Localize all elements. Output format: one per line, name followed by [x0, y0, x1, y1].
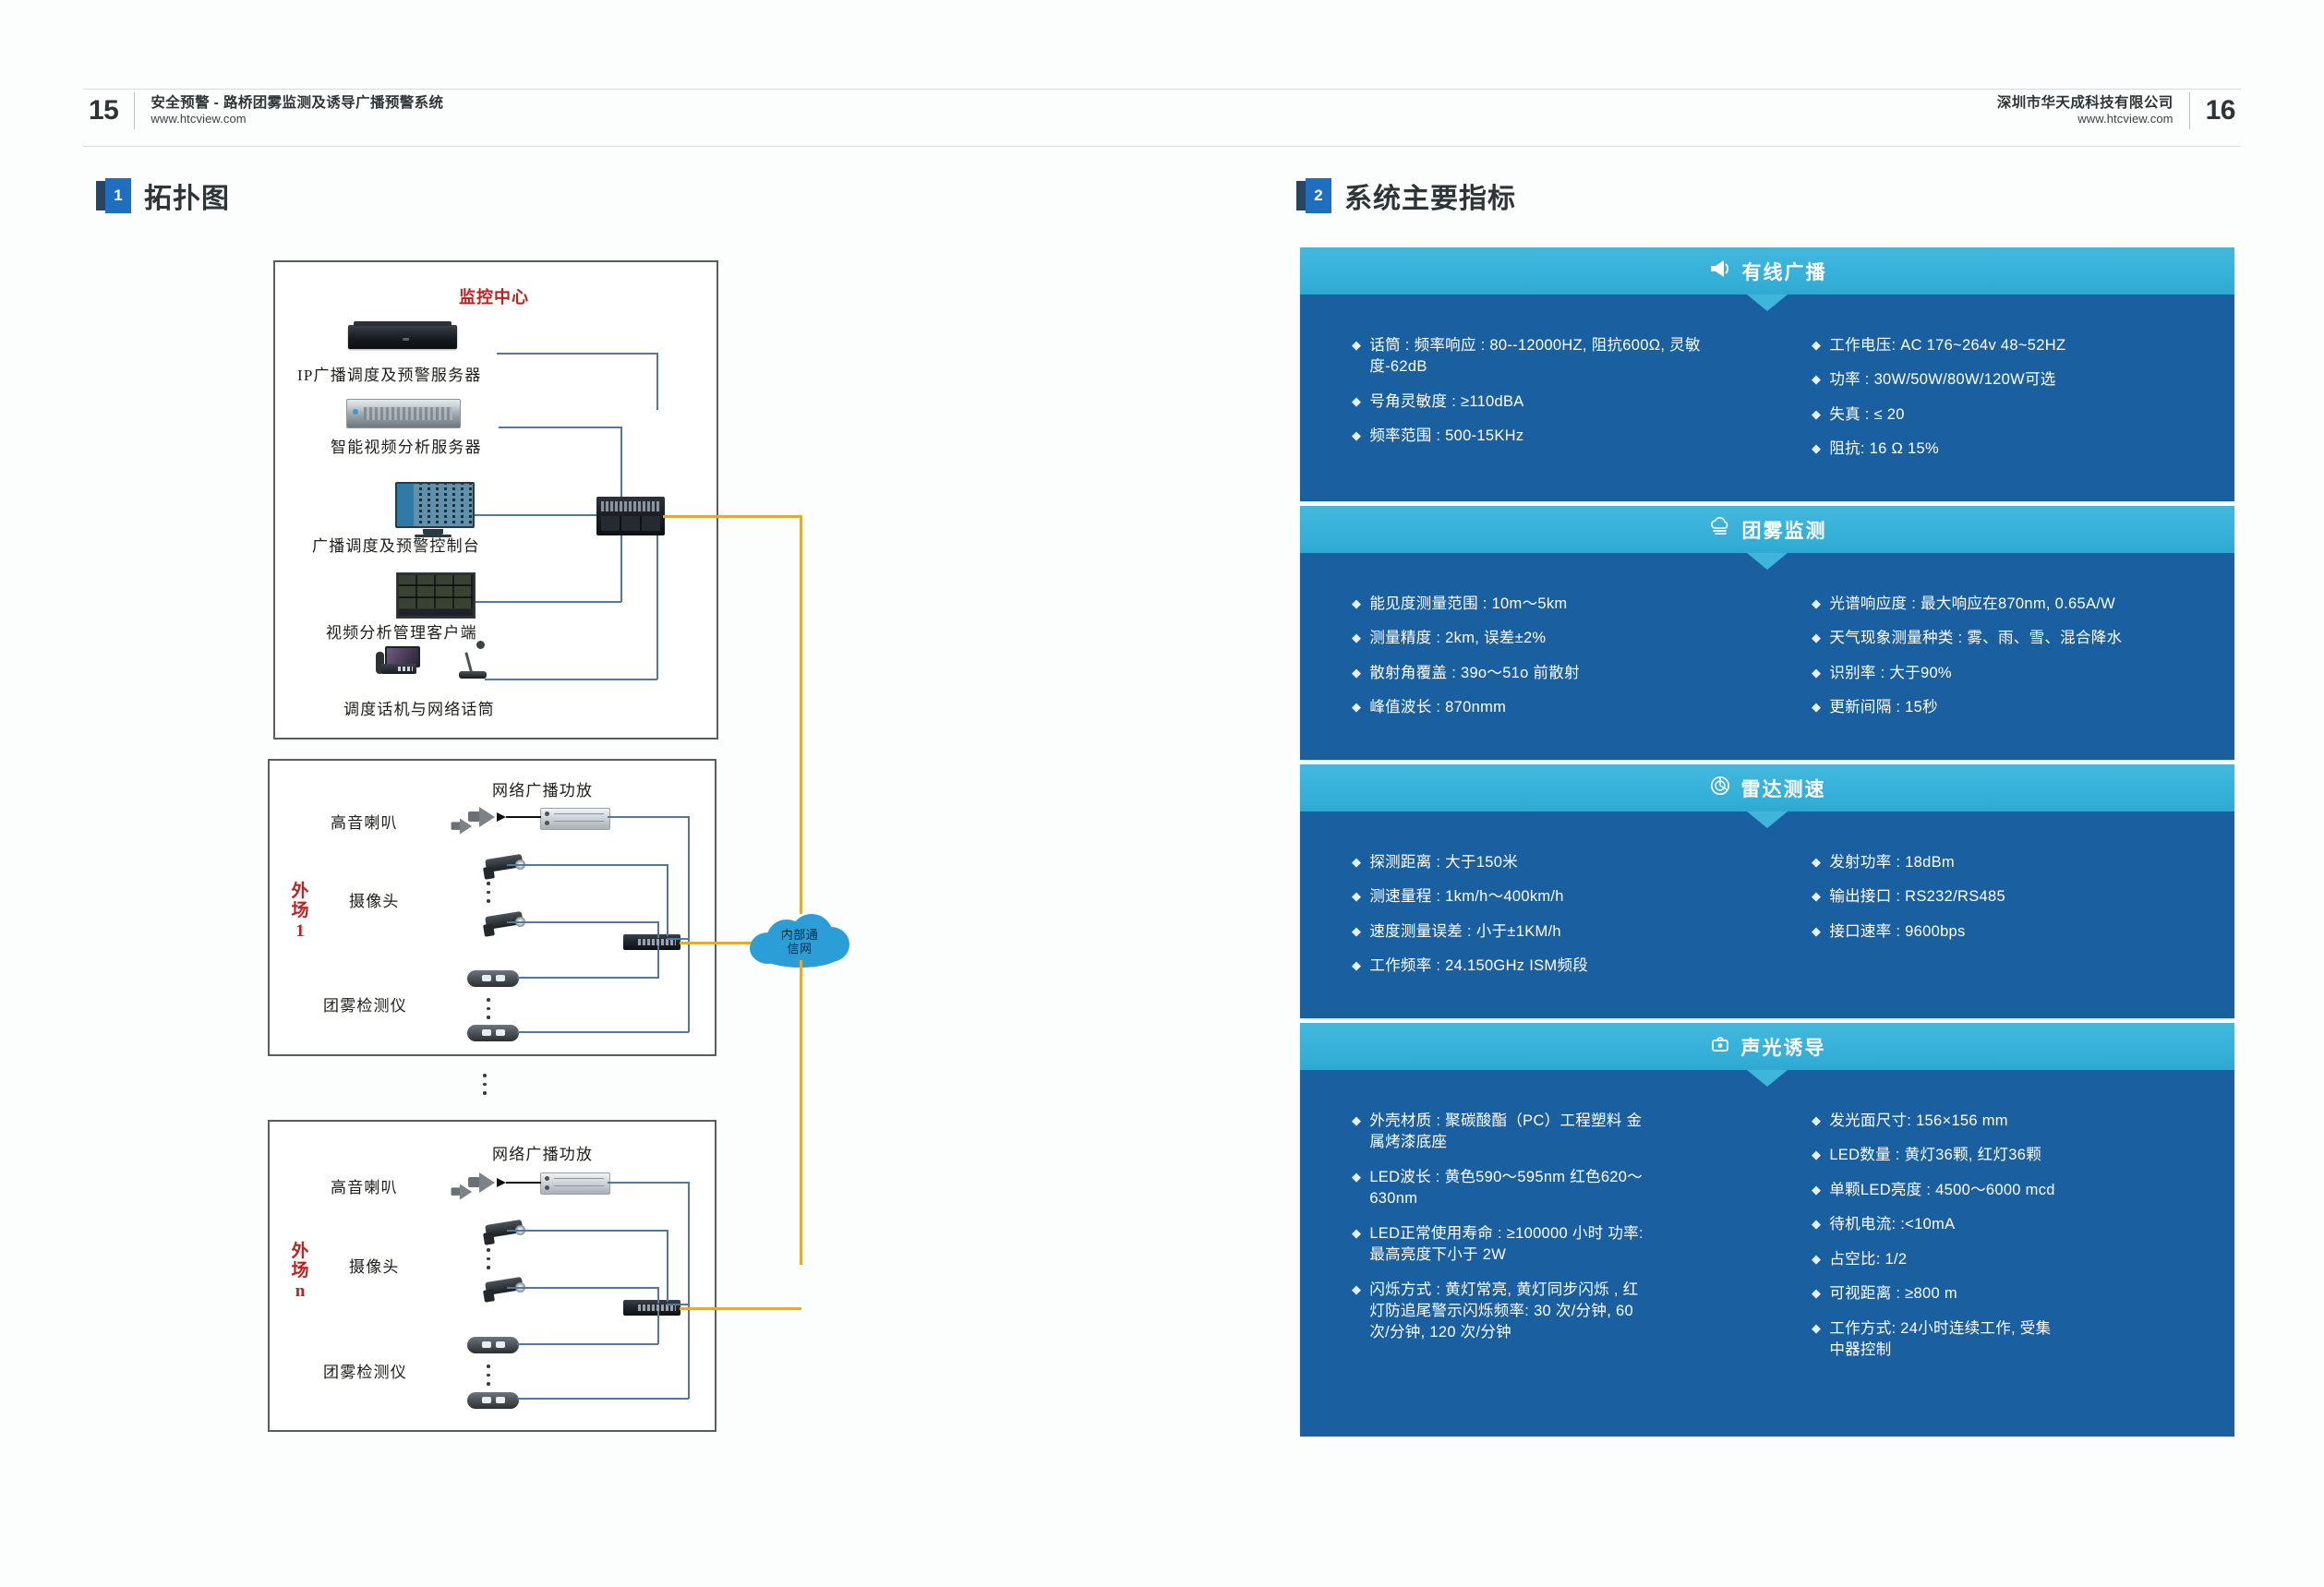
spec-text: 工作频率 : 24.150GHz ISM频段	[1369, 956, 1588, 977]
panel-notch-2	[1747, 553, 1788, 570]
field1-fog-icon-bottom	[467, 1025, 519, 1041]
spec-text: 能见度测量范围 : 10m〜5km	[1369, 594, 1567, 615]
fieldn-wire-fog1-v	[657, 1311, 659, 1344]
spec-text: LED波长 : 黄色590〜595nm 红色620〜630nm	[1369, 1167, 1646, 1210]
spec-text: 工作方式: 24小时连续工作, 受集中器控制	[1829, 1318, 2060, 1362]
spec-text: 探测距离 : 大于150米	[1369, 852, 1518, 873]
spec-text: 峰值波长 : 870nmm	[1369, 697, 1506, 718]
wire-server1-v	[656, 353, 658, 410]
section-title-specs: 2 系统主要指标	[1296, 175, 1516, 216]
spec-text: LED正常使用寿命 : ≥100000 小时 功率: 最高亮度下小于 2W	[1369, 1223, 1646, 1267]
bullet-icon: ◆	[1352, 886, 1361, 907]
page-number-right: 16	[2206, 97, 2235, 125]
field1-camera-icon-top	[478, 855, 528, 883]
spec-text: 测速量程 : 1km/h〜400km/h	[1369, 886, 1563, 908]
wire-server1-h	[497, 353, 657, 355]
field1-horn-label: 高音喇叭	[331, 810, 398, 833]
spec-text: 更新间隔 : 15秒	[1829, 697, 1938, 718]
field-site-1-label-l2: 场	[291, 901, 308, 920]
bullet-icon: ◆	[1812, 439, 1821, 459]
bullet-icon: ◆	[1352, 852, 1361, 872]
video-analysis-server-label: 智能视频分析服务器	[331, 434, 482, 457]
spec-item: ◆发光面尺寸: 156×156 mm	[1812, 1111, 2218, 1132]
fieldn-amp-to-horn-line	[506, 1182, 541, 1184]
spec-panel-audio-visual-guidance: 声光诱导 ◆外壳材质 : 聚碳酸酯（PC）工程塑料 金属烤漆底座 ◆LED波长 …	[1300, 1023, 2234, 1437]
ip-broadcast-server-label: IP广播调度及预警服务器	[297, 362, 482, 385]
spec-text: 外壳材质 : 聚碳酸酯（PC）工程塑料 金属烤漆底座	[1369, 1111, 1646, 1154]
bullet-icon: ◆	[1812, 1249, 1821, 1269]
spec-text: 发射功率 : 18dBm	[1829, 852, 1955, 873]
fieldn-wire-fog2-h	[517, 1398, 689, 1400]
panel-title-radar-speed: 雷达测速	[1741, 775, 1826, 802]
field1-fog-icon-top	[467, 970, 519, 987]
spec-text: 话筒 : 频率响应 : 80--12000HZ, 阻抗600Ω, 灵敏度-62d…	[1369, 335, 1751, 379]
panel-body-wired-broadcast: ◆话筒 : 频率响应 : 80--12000HZ, 阻抗600Ω, 灵敏度-62…	[1300, 295, 2234, 501]
field-site-n-box	[268, 1120, 716, 1432]
fieldn-wire-amp-h	[608, 1182, 689, 1184]
spec-item: ◆工作方式: 24小时连续工作, 受集中器控制	[1812, 1318, 2218, 1362]
header-url-right: www.htcview.com	[1997, 112, 2173, 126]
bullet-icon: ◆	[1352, 1111, 1361, 1131]
field1-amp-label: 网络广播功放	[492, 777, 593, 800]
dispatch-phone-label: 调度话机与网络话筒	[343, 696, 495, 719]
header-company-right: 深圳市华天成科技有限公司	[1997, 95, 2173, 112]
header-right: 深圳市华天成科技有限公司 www.htcview.com 16	[1997, 92, 2235, 129]
spec-item: ◆功率 : 30W/50W/80W/120W可选	[1812, 369, 2218, 391]
bullet-icon: ◆	[1352, 663, 1361, 683]
spec-text: 占空比: 1/2	[1829, 1249, 1907, 1270]
spec-item: ◆闪烁方式 : 黄灯常亮, 黄灯同步闪烁 , 红灯防追尾警示闪烁频率: 30 次…	[1352, 1280, 1751, 1344]
bullet-icon: ◆	[1812, 1318, 1821, 1339]
fieldn-wire-trunk-v	[688, 1182, 690, 1399]
panel1-col-right: ◆工作电压: AC 176~264v 48~52HZ ◆功率 : 30W/50W…	[1767, 335, 2234, 474]
panel-head-fog-monitoring: 团雾监测	[1300, 506, 2234, 553]
spec-text: 输出接口 : RS232/RS485	[1829, 886, 2005, 908]
fiber-trunk-upper	[800, 515, 802, 914]
panel2-col-left: ◆能见度测量范围 : 10m〜5km ◆测量精度 : 2km, 误差±2% ◆散…	[1300, 594, 1767, 732]
fieldn-fog-icon-top	[467, 1337, 519, 1353]
spec-item: ◆阻抗: 16 Ω 15%	[1812, 439, 2218, 460]
bullet-icon: ◆	[1352, 426, 1361, 446]
fieldn-camera-icon-top	[478, 1220, 528, 1248]
fieldn-wire-cam2-h	[507, 1287, 658, 1289]
spec-item: ◆测量精度 : 2km, 误差±2%	[1352, 628, 1751, 649]
spec-item: ◆工作频率 : 24.150GHz ISM频段	[1352, 956, 1751, 977]
field-site-1-label: 外 场 1	[288, 882, 312, 941]
spec-item: ◆识别率 : 大于90%	[1812, 663, 2218, 684]
cloud-label-line2: 信网	[787, 943, 812, 956]
field1-camera-icon-bottom	[478, 912, 528, 940]
panel2-col-right: ◆光谱响应度 : 最大响应在870nm, 0.65A/W ◆天气现象测量种类 :…	[1767, 594, 2234, 732]
field1-wire-cam2-h	[507, 921, 658, 923]
spec-item: ◆单颗LED亮度 : 4500〜6000 mcd	[1812, 1180, 2218, 1201]
spec-text: 失真 : ≤ 20	[1829, 404, 1904, 426]
spec-text: LED数量 : 黄灯36颗, 红灯36颗	[1829, 1145, 2041, 1166]
fieldn-fiber-to-cloud	[680, 1307, 801, 1310]
spec-text: 光谱响应度 : 最大响应在870nm, 0.65A/W	[1829, 594, 2115, 615]
field1-wire-sw-h	[667, 938, 689, 940]
field-site-1-label-l3: 1	[295, 921, 305, 941]
spec-item: ◆光谱响应度 : 最大响应在870nm, 0.65A/W	[1812, 594, 2218, 615]
fieldn-fog-icon-bottom	[467, 1392, 519, 1409]
bullet-icon: ◆	[1812, 335, 1821, 355]
bullet-icon: ◆	[1812, 369, 1821, 390]
field1-fog-label: 团雾检测仪	[323, 992, 407, 1016]
spec-text: 阻抗: 16 Ω 15%	[1829, 439, 1939, 460]
spec-text: 号角灵敏度 : ≥110dBA	[1369, 391, 1523, 413]
field-site-n-label-l2: 场	[291, 1261, 308, 1280]
spec-item: ◆频率范围 : 500-15KHz	[1352, 426, 1751, 447]
spec-text: 单颗LED亮度 : 4500〜6000 mcd	[1829, 1180, 2054, 1201]
fieldn-wire-cam1-v	[667, 1230, 668, 1302]
wire-server2-h	[499, 427, 621, 428]
spec-item: ◆能见度测量范围 : 10m〜5km	[1352, 594, 1751, 615]
fog-cloud-icon	[1708, 517, 1732, 542]
header-divider-right	[2189, 92, 2190, 129]
field1-wire-cam1-h	[507, 864, 668, 866]
spec-item: ◆输出接口 : RS232/RS485	[1812, 886, 2218, 908]
field-site-n-label: 外 场 n	[288, 1242, 312, 1301]
video-client-label: 视频分析管理客户端	[326, 619, 477, 643]
monitoring-center-title: 监控中心	[273, 284, 715, 308]
internal-network-cloud: 内部通 信网	[750, 914, 849, 971]
spec-text: 待机电流: :<10mA	[1829, 1214, 1955, 1235]
spec-item: ◆测速量程 : 1km/h〜400km/h	[1352, 886, 1751, 908]
field1-amp-to-horn-line	[506, 816, 541, 818]
field-site-1-label-l1: 外	[291, 882, 308, 901]
beacon-light-icon	[1709, 1034, 1731, 1059]
bullet-icon: ◆	[1812, 1180, 1821, 1200]
spec-text: 工作电压: AC 176~264v 48~52HZ	[1829, 335, 2065, 356]
spec-text: 频率范围 : 500-15KHz	[1369, 426, 1523, 447]
panel-body-radar-speed: ◆探测距离 : 大于150米 ◆测速量程 : 1km/h〜400km/h ◆速度…	[1300, 812, 2234, 1018]
section-label-specs: 系统主要指标	[1344, 175, 1516, 216]
fieldn-amp-label: 网络广播功放	[492, 1141, 593, 1164]
panel4-col-left: ◆外壳材质 : 聚碳酸酯（PC）工程塑料 金属烤漆底座 ◆LED波长 : 黄色5…	[1300, 1111, 1767, 1374]
field1-wire-fog1-v	[657, 945, 659, 979]
broadcast-console-icon	[395, 482, 471, 534]
radar-icon	[1709, 775, 1731, 801]
spec-item: ◆可视距离 : ≥800 m	[1812, 1283, 2218, 1304]
spec-text: 天气现象测量种类 : 雾、雨、雪、混合降水	[1829, 628, 2122, 649]
video-analysis-server-icon	[346, 399, 461, 428]
fieldn-amp-to-horn-arrow	[497, 1178, 506, 1187]
panel-title-wired-broadcast: 有线广播	[1742, 258, 1827, 285]
core-switch-icon	[596, 497, 665, 535]
bullet-icon: ◆	[1812, 404, 1821, 425]
video-client-icon	[396, 572, 476, 619]
dispatch-phone-icon	[376, 646, 418, 678]
fieldn-horn-icon-b	[436, 1180, 476, 1204]
fieldn-amp-icon	[540, 1172, 610, 1195]
fieldn-fog-label: 团雾检测仪	[323, 1359, 407, 1382]
topology-diagram: 监控中心 IP广播调度及预警服务器 智能视频分析服务器 广播调度及预警控制台 视…	[0, 0, 1200, 1587]
spec-item: ◆发射功率 : 18dBm	[1812, 852, 2218, 873]
panel-title-fog-monitoring: 团雾监测	[1742, 516, 1827, 544]
spec-text: 接口速率 : 9600bps	[1829, 921, 1965, 943]
spec-item: ◆LED波长 : 黄色590〜595nm 红色620〜630nm	[1352, 1167, 1751, 1210]
panel3-col-right: ◆发射功率 : 18dBm ◆输出接口 : RS232/RS485 ◆接口速率 …	[1767, 852, 2234, 991]
ip-broadcast-server-icon	[348, 325, 457, 349]
field-site-n-label-l1: 外	[291, 1242, 308, 1261]
bullet-icon: ◆	[1812, 1111, 1821, 1131]
megaphone-icon	[1708, 258, 1732, 283]
panel-title-audio-visual-guidance: 声光诱导	[1741, 1033, 1826, 1061]
spec-item: ◆LED正常使用寿命 : ≥100000 小时 功率: 最高亮度下小于 2W	[1352, 1223, 1751, 1267]
brochure-page: 15 安全预警 - 路桥团雾监测及诱导广播预警系统 www.htcview.co…	[0, 0, 2324, 1587]
fieldn-wire-cam1-h	[507, 1230, 668, 1232]
panel-head-audio-visual-guidance: 声光诱导	[1300, 1023, 2234, 1070]
fieldn-wire-cam2-v	[657, 1287, 659, 1304]
spec-text: 散射角覆盖 : 39o〜51o 前散射	[1369, 663, 1580, 684]
spec-item: ◆更新间隔 : 15秒	[1812, 697, 2218, 718]
bullet-icon: ◆	[1812, 921, 1821, 942]
panel-notch-3	[1747, 812, 1788, 828]
panel-body-audio-visual-guidance: ◆外壳材质 : 聚碳酸酯（PC）工程塑料 金属烤漆底座 ◆LED波长 : 黄色5…	[1300, 1070, 2234, 1437]
fieldn-horn-label: 高音喇叭	[331, 1174, 398, 1197]
section-badge-2-number: 2	[1306, 178, 1331, 213]
bullet-icon: ◆	[1352, 1167, 1361, 1187]
spec-text: 测量精度 : 2km, 误差±2%	[1369, 628, 1546, 649]
spec-item: ◆号角灵敏度 : ≥110dBA	[1352, 391, 1751, 413]
field1-amp-icon	[540, 808, 610, 830]
bullet-icon: ◆	[1352, 1280, 1361, 1300]
field1-wire-cam2-v	[657, 921, 659, 938]
fieldn-switch-icon	[623, 1300, 680, 1316]
field1-wire-amp-h	[608, 816, 689, 818]
field1-switch-icon	[623, 934, 680, 950]
panel-head-wired-broadcast: 有线广播	[1300, 247, 2234, 295]
spec-item: ◆外壳材质 : 聚碳酸酯（PC）工程塑料 金属烤漆底座	[1352, 1111, 1751, 1154]
fieldn-camera-icon-bottom	[478, 1278, 528, 1305]
section-badge-2-icon: 2	[1296, 178, 1331, 213]
spec-item: ◆占空比: 1/2	[1812, 1249, 2218, 1270]
spec-item: ◆话筒 : 频率响应 : 80--12000HZ, 阻抗600Ω, 灵敏度-62…	[1352, 335, 1751, 379]
field-site-n-label-l3: n	[295, 1281, 306, 1301]
bullet-icon: ◆	[1812, 852, 1821, 872]
panel4-col-right: ◆发光面尺寸: 156×156 mm ◆LED数量 : 黄灯36颗, 红灯36颗…	[1767, 1111, 2234, 1374]
spec-text: 速度测量误差 : 小于±1KM/h	[1369, 921, 1561, 943]
field1-wire-fog2-h	[517, 1031, 689, 1033]
bullet-icon: ◆	[1352, 594, 1361, 614]
fiber-trunk-lower	[800, 960, 802, 1265]
bullet-icon: ◆	[1352, 697, 1361, 717]
cloud-label-line1: 内部通	[781, 929, 819, 943]
panel-head-radar-speed: 雷达测速	[1300, 764, 2234, 812]
panel-body-fog-monitoring: ◆能见度测量范围 : 10m〜5km ◆测量精度 : 2km, 误差±2% ◆散…	[1300, 553, 2234, 760]
wire-client-h	[466, 601, 621, 603]
spec-text: 识别率 : 大于90%	[1829, 663, 1952, 684]
spec-item: ◆峰值波长 : 870nmm	[1352, 697, 1751, 718]
broadcast-console-label: 广播调度及预警控制台	[312, 533, 480, 556]
fieldn-fog-ellipsis	[487, 1365, 490, 1386]
bullet-icon: ◆	[1812, 1214, 1821, 1234]
panel1-col-left: ◆话筒 : 频率响应 : 80--12000HZ, 阻抗600Ω, 灵敏度-62…	[1300, 335, 1767, 474]
spec-text: 发光面尺寸: 156×156 mm	[1829, 1111, 2008, 1132]
bullet-icon: ◆	[1812, 663, 1821, 683]
bullet-icon: ◆	[1812, 886, 1821, 907]
bullet-icon: ◆	[1352, 956, 1361, 976]
field1-amp-to-horn-arrow	[497, 812, 506, 822]
spec-text: 闪烁方式 : 黄灯常亮, 黄灯同步闪烁 , 红灯防追尾警示闪烁频率: 30 次/…	[1369, 1280, 1646, 1344]
fiber-center-to-cloud	[663, 515, 801, 518]
field-sites-ellipsis	[483, 1074, 487, 1095]
spec-item: ◆探测距离 : 大于150米	[1352, 852, 1751, 873]
spec-text: 可视距离 : ≥800 m	[1829, 1283, 1957, 1304]
spec-item: ◆失真 : ≤ 20	[1812, 404, 2218, 426]
bullet-icon: ◆	[1812, 594, 1821, 614]
bullet-icon: ◆	[1812, 628, 1821, 648]
field1-wire-fog1-h	[517, 977, 658, 979]
spec-text: 功率 : 30W/50W/80W/120W可选	[1829, 369, 2055, 391]
field1-horn-icon-b	[436, 814, 476, 838]
field1-wire-cam1-v	[667, 864, 668, 936]
spec-panel-radar-speed: 雷达测速 ◆探测距离 : 大于150米 ◆测速量程 : 1km/h〜400km/…	[1300, 764, 2234, 1018]
spec-item: ◆天气现象测量种类 : 雾、雨、雪、混合降水	[1812, 628, 2218, 649]
spec-item: ◆待机电流: :<10mA	[1812, 1214, 2218, 1235]
fieldn-camera-ellipsis	[487, 1248, 490, 1269]
bullet-icon: ◆	[1352, 921, 1361, 942]
spec-item: ◆工作电压: AC 176~264v 48~52HZ	[1812, 335, 2218, 356]
bullet-icon: ◆	[1352, 335, 1361, 355]
bullet-icon: ◆	[1812, 1283, 1821, 1304]
field1-camera-ellipsis	[487, 882, 490, 903]
field1-camera-label: 摄像头	[349, 888, 400, 911]
network-microphone-icon	[457, 642, 488, 679]
fieldn-wire-sw-h	[667, 1304, 689, 1305]
spec-panel-wired-broadcast: 有线广播 ◆话筒 : 频率响应 : 80--12000HZ, 阻抗600Ω, 灵…	[1300, 247, 2234, 501]
spec-panel-fog-monitoring: 团雾监测 ◆能见度测量范围 : 10m〜5km ◆测量精度 : 2km, 误差±…	[1300, 506, 2234, 760]
spec-item: ◆接口速率 : 9600bps	[1812, 921, 2218, 943]
field1-wire-trunk-v	[688, 816, 690, 1032]
fieldn-camera-label: 摄像头	[349, 1254, 400, 1277]
field1-fog-ellipsis	[487, 998, 490, 1019]
bullet-icon: ◆	[1812, 1145, 1821, 1165]
panel-notch-4	[1747, 1070, 1788, 1087]
wire-phone-v	[656, 514, 658, 679]
bullet-icon: ◆	[1352, 391, 1361, 412]
spec-item: ◆散射角覆盖 : 39o〜51o 前散射	[1352, 663, 1751, 684]
bullet-icon: ◆	[1812, 697, 1821, 717]
fieldn-wire-fog1-h	[517, 1343, 658, 1345]
bullet-icon: ◆	[1352, 1223, 1361, 1244]
panel3-col-left: ◆探测距离 : 大于150米 ◆测速量程 : 1km/h〜400km/h ◆速度…	[1300, 852, 1767, 991]
spec-item: ◆速度测量误差 : 小于±1KM/h	[1352, 921, 1751, 943]
wire-phone-h	[485, 679, 657, 680]
panel-notch-1	[1747, 295, 1788, 311]
bullet-icon: ◆	[1352, 628, 1361, 648]
spec-item: ◆LED数量 : 黄灯36颗, 红灯36颗	[1812, 1145, 2218, 1166]
